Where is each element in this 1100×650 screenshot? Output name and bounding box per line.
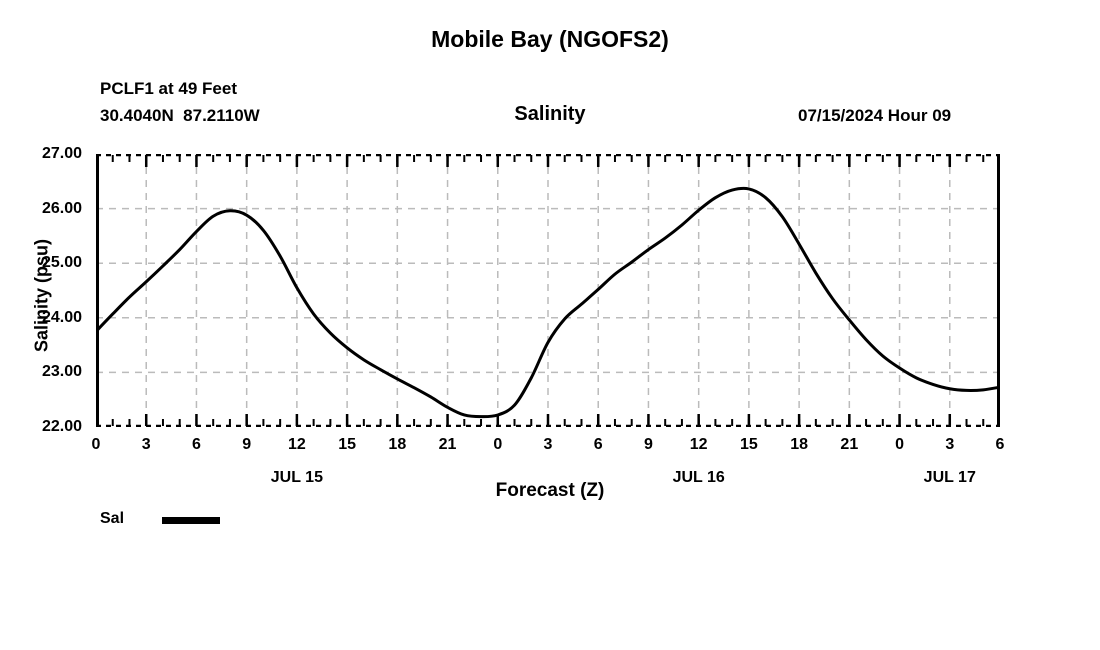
y-axis-tick-label: 22.00 xyxy=(14,418,82,436)
x-axis-tick-label: 6 xyxy=(578,436,618,454)
x-axis-day-label: JUL 16 xyxy=(639,469,759,487)
y-axis-tick-label: 27.00 xyxy=(14,145,82,163)
y-axis-tick-label: 23.00 xyxy=(14,363,82,381)
y-axis-tick-label: 24.00 xyxy=(14,309,82,327)
x-axis-tick-label: 0 xyxy=(478,436,518,454)
model-run-timestamp: 07/15/2024 Hour 09 xyxy=(798,106,951,126)
x-axis-tick-label: 12 xyxy=(277,436,317,454)
x-axis-tick-label: 0 xyxy=(76,436,116,454)
salinity-line-chart xyxy=(96,154,1000,427)
x-axis-tick-label: 9 xyxy=(628,436,668,454)
x-axis-day-label: JUL 15 xyxy=(237,469,357,487)
y-axis-tick-label: 26.00 xyxy=(14,200,82,218)
x-axis-tick-label: 18 xyxy=(779,436,819,454)
x-axis-tick-label: 21 xyxy=(829,436,869,454)
x-axis-tick-label: 3 xyxy=(528,436,568,454)
x-axis-tick-label: 6 xyxy=(980,436,1020,454)
x-axis-tick-label: 3 xyxy=(930,436,970,454)
x-axis-tick-label: 9 xyxy=(227,436,267,454)
x-axis-tick-label: 18 xyxy=(377,436,417,454)
y-axis-tick-label: 25.00 xyxy=(14,254,82,272)
legend-item-label: Sal xyxy=(100,510,124,528)
legend-line-swatch xyxy=(162,517,220,524)
x-axis-tick-label: 6 xyxy=(176,436,216,454)
x-axis-tick-label: 12 xyxy=(679,436,719,454)
x-axis-day-label: JUL 17 xyxy=(890,469,1010,487)
x-axis-tick-label: 3 xyxy=(126,436,166,454)
station-label: PCLF1 at 49 Feet xyxy=(100,79,237,99)
x-axis-tick-label: 15 xyxy=(327,436,367,454)
page-title: Mobile Bay (NGOFS2) xyxy=(0,26,1100,53)
x-axis-tick-label: 21 xyxy=(428,436,468,454)
x-axis-tick-label: 15 xyxy=(729,436,769,454)
x-axis-tick-label: 0 xyxy=(880,436,920,454)
chart-plot-area: 27.0026.0025.0024.0023.0022.000369121518… xyxy=(96,154,1000,427)
